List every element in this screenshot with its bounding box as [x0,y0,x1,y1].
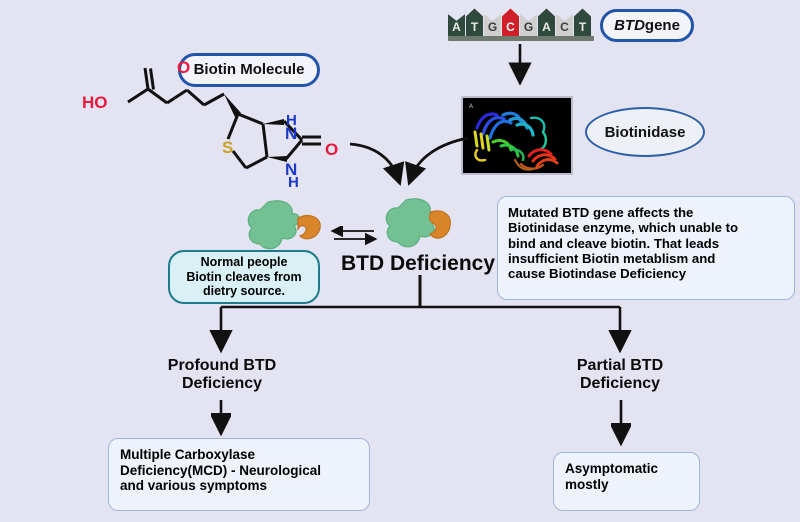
biotin-nitrogen-top-label: N [285,124,297,144]
partial-btd-heading-line-1: Partial BTD [540,357,700,375]
partial-btd-heading: Partial BTD Deficiency [540,357,700,393]
profound-btd-heading-line-1: Profound BTD [142,357,302,375]
bound-enzyme-substrate-graphic [378,196,468,260]
profound-outcome-line-3: and various symptoms [120,478,358,494]
profound-outcome-arrow [211,400,231,438]
dna-backbone [448,36,594,41]
dna-base-8: T [574,8,591,36]
dna-base-4: C [502,8,519,36]
dna-base-2: T [466,8,483,36]
mutation-line-1: Mutated BTD gene affects the [508,205,784,220]
partial-outcome-box: Asymptomatic mostly [553,452,700,511]
biotinidase-label-text: Biotinidase [605,124,686,141]
equilibrium-arrows [330,226,378,248]
btd-gene-label-italic: BTD [614,18,645,34]
mutation-line-2: Biotinidase enzyme, which unable to [508,220,784,235]
profound-outcome-line-1: Multiple Carboxylase [120,447,358,463]
biotin-sulfur-label: S [222,138,233,158]
mutation-line-4: insufficient Biotin metablism and [508,251,784,266]
dna-base-7: C [556,8,573,36]
biotin-structure [78,58,348,193]
partial-outcome-line-1: Asymptomatic [565,461,688,477]
btd-gene-label: BTD gene [600,9,694,42]
protein-thumb-corner-label: A [469,104,473,110]
biotin-carbonyl-oxygen-label: O [177,58,190,78]
dna-base-3: G [484,8,501,36]
dna-base-6: A [538,8,555,36]
dna-base-1: A [448,8,465,36]
dna-base-5: G [520,8,537,36]
profound-btd-heading: Profound BTD Deficiency [142,357,302,393]
partial-outcome-arrow [611,400,631,448]
profound-outcome-line-2: Deficiency(MCD) - Neurological [120,463,358,479]
converging-arrows [310,130,510,200]
mutation-line-3: bind and cleave biotin. That leads [508,236,784,251]
btd-gene-label-rest: gene [645,18,680,34]
gene-to-protein-arrow [500,44,540,90]
profound-outcome-box: Multiple Carboxylase Deficiency(MCD) - N… [108,438,370,511]
dna-base-sequence: ATGCGACT [448,8,594,36]
biotinidase-label: Biotinidase [585,107,705,157]
partial-btd-heading-line-2: Deficiency [540,375,700,393]
partial-outcome-line-2: mostly [565,477,688,493]
enzyme-blob-unbound [248,201,299,249]
dna-strand-group: ATGCGACT [448,8,594,41]
biotin-nitrogen-bottom-h-label: H [288,174,299,191]
enzyme-blob-bound [386,199,437,247]
btd-deficiency-title: BTD Deficiency [338,252,498,276]
diagram-canvas: ATGCGACT BTD gene Biotin Molecule [0,0,800,522]
normal-people-line-1: Normal people [201,255,288,270]
substrate-blob-unbound [298,216,320,239]
profound-btd-heading-line-2: Deficiency [142,375,302,393]
biotin-hydroxyl-label: HO [82,93,108,113]
